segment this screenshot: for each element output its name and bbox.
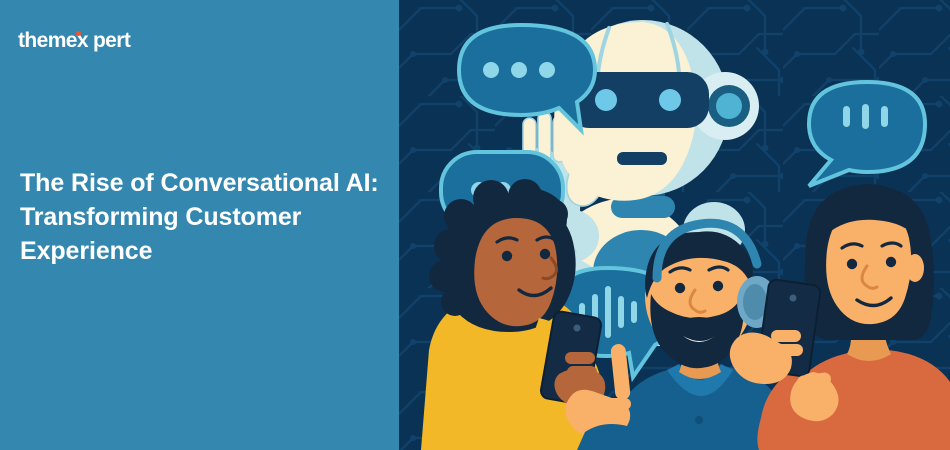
logo-text-before: theme <box>18 30 77 51</box>
logo-accent-dot-icon <box>76 31 81 36</box>
woman-bob-ear <box>906 254 924 282</box>
robot-eye-right <box>659 89 681 111</box>
hero-illustration-svg <box>399 0 950 450</box>
page-title: The Rise of Conversational AI: Transform… <box>20 166 392 268</box>
woman-curly-face <box>474 218 557 326</box>
themexpert-logo[interactable]: themexpert <box>18 30 130 51</box>
logo-text-after: pert <box>93 30 130 51</box>
robot-mouth <box>617 152 667 165</box>
man-shirt-button <box>695 416 703 424</box>
blog-header-banner: themexpert The Rise of Conversational AI… <box>0 0 950 450</box>
robot-ear-core <box>716 93 742 119</box>
left-text-panel: themexpert The Rise of Conversational AI… <box>0 0 399 450</box>
hero-illustration <box>399 0 950 450</box>
robot-eye-left <box>595 89 617 111</box>
bubble-dots-glyph <box>483 62 555 78</box>
